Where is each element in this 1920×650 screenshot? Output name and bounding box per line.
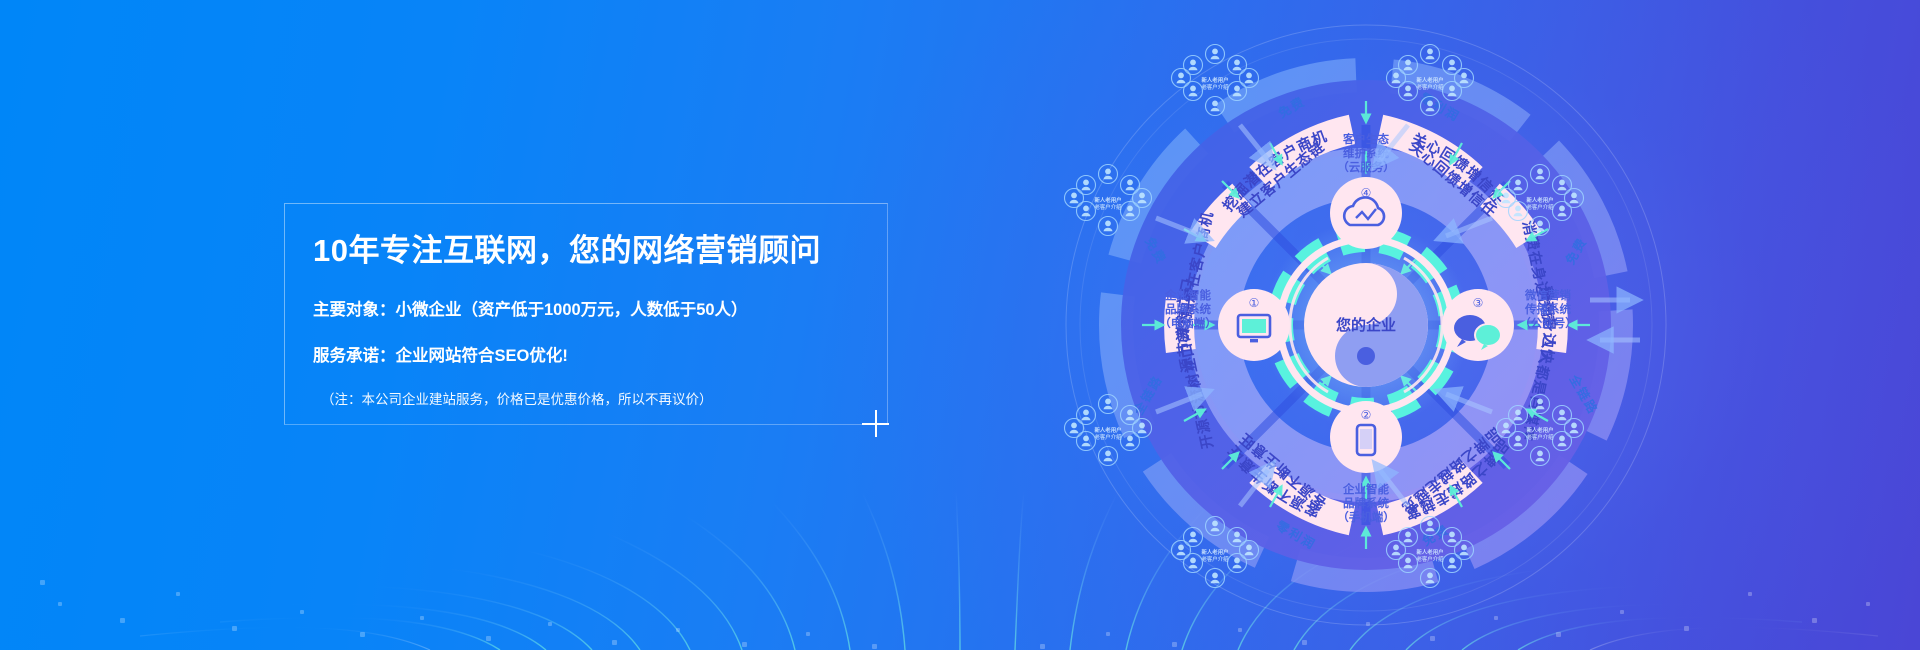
node-mobile-label: 企业智能 品牌系统 （手机端） bbox=[1337, 482, 1395, 524]
svg-text:品牌系统: 品牌系统 bbox=[1343, 496, 1389, 510]
marketing-wheel-infographic: 挖掘潜在客户商机 关心回馈增信任 消费在身边快捷 品牌之路越走越宽 客源不断生意… bbox=[1056, 15, 1676, 635]
svg-text:（公众号）: （公众号） bbox=[1519, 316, 1577, 330]
center-label: 您的企业 bbox=[1335, 316, 1396, 334]
node-cloud-label: 客户生态 维护系统 （云服务） bbox=[1337, 132, 1395, 174]
page-title: 10年专注互联网，您的网络营销顾问 bbox=[313, 232, 877, 269]
svg-text:企业智能: 企业智能 bbox=[1164, 288, 1211, 302]
node-number: ③ bbox=[1473, 296, 1484, 310]
svg-text:维护系统: 维护系统 bbox=[1343, 146, 1389, 160]
svg-text:（电脑端）: （电脑端） bbox=[1159, 316, 1217, 330]
node-number: ② bbox=[1361, 408, 1372, 422]
node-wechat[interactable]: ③ bbox=[1442, 289, 1514, 361]
svg-text:品牌系统: 品牌系统 bbox=[1165, 302, 1211, 316]
svg-text:客户生态: 客户生态 bbox=[1342, 132, 1389, 146]
price-note: （注：本公司企业建站服务，价格已是优惠价格，所以不再议价） bbox=[321, 388, 877, 408]
node-mobile[interactable]: ② bbox=[1330, 401, 1402, 473]
node-desktop[interactable]: ① bbox=[1218, 289, 1290, 361]
promo-text-box: 10年专注互联网，您的网络营销顾问 主要对象：小微企业（资产低于1000万元，人… bbox=[284, 203, 888, 425]
node-cloud[interactable]: ④ bbox=[1330, 177, 1402, 249]
svg-text:（云服务）: （云服务） bbox=[1337, 160, 1395, 174]
svg-text:传播系统: 传播系统 bbox=[1524, 302, 1571, 316]
svg-text:（手机端）: （手机端） bbox=[1337, 510, 1395, 524]
plus-marker-icon bbox=[875, 423, 876, 424]
target-audience-line: 主要对象：小微企业（资产低于1000万元，人数低于50人） bbox=[313, 296, 877, 320]
service-promise-line: 服务承诺：企业网站符合SEO优化! bbox=[313, 342, 877, 366]
svg-text:微信营销: 微信营销 bbox=[1524, 288, 1571, 302]
hero-banner: 10年专注互联网，您的网络营销顾问 主要对象：小微企业（资产低于1000万元，人… bbox=[0, 0, 1920, 650]
svg-text:企业智能: 企业智能 bbox=[1342, 482, 1389, 496]
node-wechat-label: 微信营销 传播系统 （公众号） bbox=[1519, 288, 1577, 330]
node-number: ① bbox=[1249, 296, 1260, 310]
node-desktop-label: 企业智能 品牌系统 （电脑端） bbox=[1159, 288, 1217, 330]
